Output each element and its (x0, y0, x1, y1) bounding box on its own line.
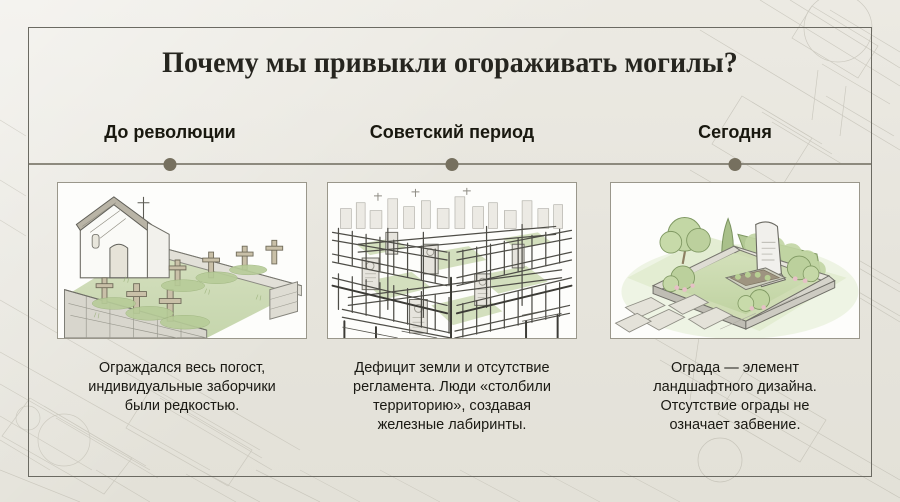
caption-line: Отсутствие ограды не (610, 397, 860, 416)
caption-line: были редкостью. (57, 397, 307, 416)
illustration-fence-maze (327, 182, 577, 339)
column-header-soviet-period: Советский период (370, 122, 534, 143)
caption-pre-revolution: Ограждался весь погост, индивидуальные з… (57, 359, 307, 416)
timeline-dot-soviet-period[interactable] (446, 158, 459, 171)
column-today: Ограда — элемент ландшафтного дизайна. О… (610, 182, 860, 436)
column-pre-revolution: Ограждался весь погост, индивидуальные з… (57, 182, 307, 416)
caption-line: Ограда — элемент (610, 359, 860, 378)
caption-line: территорию», создавая (327, 397, 577, 416)
caption-line: означает забвение. (610, 416, 860, 435)
caption-line: Дефицит земли и отсутствие (327, 359, 577, 378)
timeline-dot-pre-revolution[interactable] (164, 158, 177, 171)
timeline-dot-today[interactable] (729, 158, 742, 171)
caption-soviet-period: Дефицит земли и отсутствие регламента. Л… (327, 359, 577, 436)
illustration-modern-grave-plot (610, 182, 860, 339)
illustration-old-churchyard (57, 182, 307, 339)
caption-line: Ограждался весь погост, (57, 359, 307, 378)
caption-line: индивидуальные заборчики (57, 378, 307, 397)
caption-today: Ограда — элемент ландшафтного дизайна. О… (610, 359, 860, 436)
caption-line: регламента. Люди «столбили (327, 378, 577, 397)
column-header-today: Сегодня (698, 122, 772, 143)
column-soviet-period: Дефицит земли и отсутствие регламента. Л… (327, 182, 577, 436)
caption-line: ландшафтного дизайна. (610, 378, 860, 397)
column-header-pre-revolution: До революции (104, 122, 235, 143)
page-title: Почему мы привыкли огораживать могилы? (32, 46, 869, 80)
caption-line: железные лабиринты. (327, 416, 577, 435)
slide-root: Почему мы привыкли огораживать могилы? Д… (0, 0, 900, 502)
